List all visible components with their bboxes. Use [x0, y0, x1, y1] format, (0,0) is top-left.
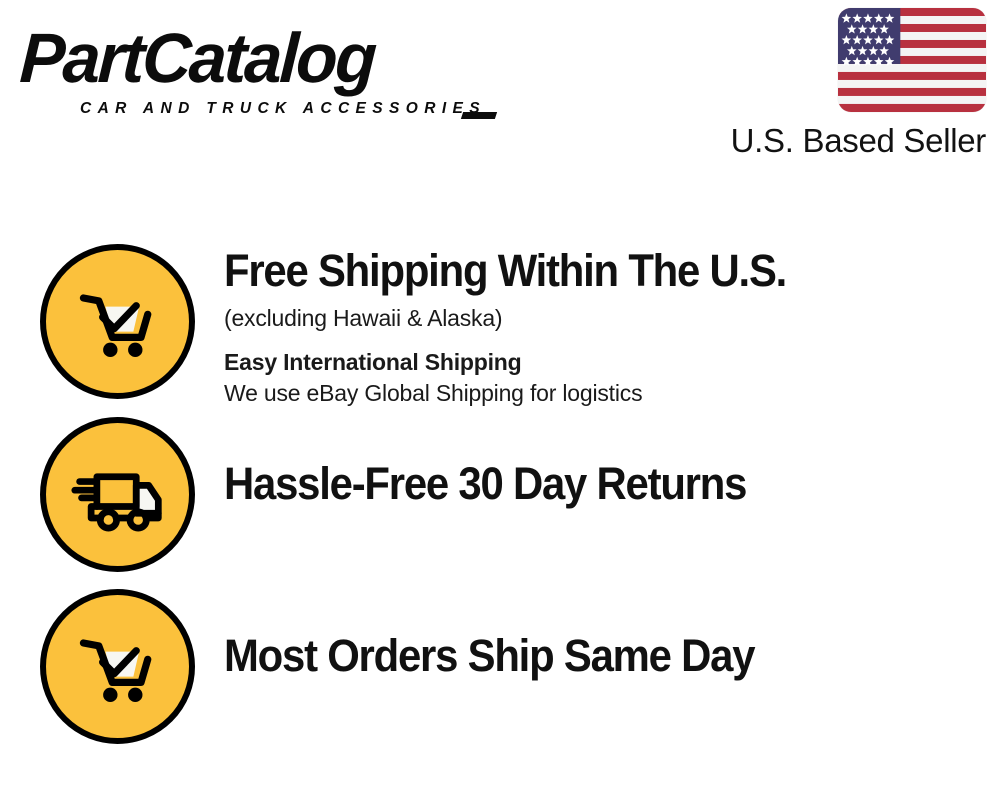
feature-subtitle-logistics: We use eBay Global Shipping for logistic…: [224, 378, 980, 408]
feature-text: Hassle-Free 30 Day Returns: [195, 417, 980, 510]
feature-title: Most Orders Ship Same Day: [224, 630, 927, 682]
shopping-cart-check-icon: [40, 589, 195, 744]
feature-row: Most Orders Ship Same Day: [40, 589, 980, 744]
delivery-truck-icon: [40, 417, 195, 572]
feature-row: Hassle-Free 30 Day Returns: [40, 417, 980, 572]
shopping-cart-check-icon: [40, 244, 195, 399]
brand-tagline-rule: [461, 112, 497, 119]
us-flag-icon: [838, 8, 986, 112]
feature-title: Free Shipping Within The U.S.: [224, 245, 927, 297]
feature-text: Free Shipping Within The U.S. (excluding…: [195, 244, 980, 408]
feature-subtitle-international: Easy International Shipping: [224, 347, 980, 377]
brand-tagline: CAR AND TRUCK ACCESSORIES: [80, 100, 486, 118]
us-based-seller-label: U.S. Based Seller: [716, 121, 986, 161]
feature-subtitle-exclusion: (excluding Hawaii & Alaska): [224, 303, 980, 333]
brand-wordmark: PartCatalog: [18, 20, 376, 96]
shipping-info-banner: PartCatalog CAR AND TRUCK ACCESSORIES: [0, 0, 1000, 800]
feature-title: Hassle-Free 30 Day Returns: [224, 458, 927, 510]
feature-text: Most Orders Ship Same Day: [195, 589, 980, 682]
feature-row: Free Shipping Within The U.S. (excluding…: [40, 244, 980, 408]
brand-logo: PartCatalog CAR AND TRUCK ACCESSORIES: [22, 20, 492, 116]
us-based-seller-block: U.S. Based Seller: [716, 8, 986, 161]
